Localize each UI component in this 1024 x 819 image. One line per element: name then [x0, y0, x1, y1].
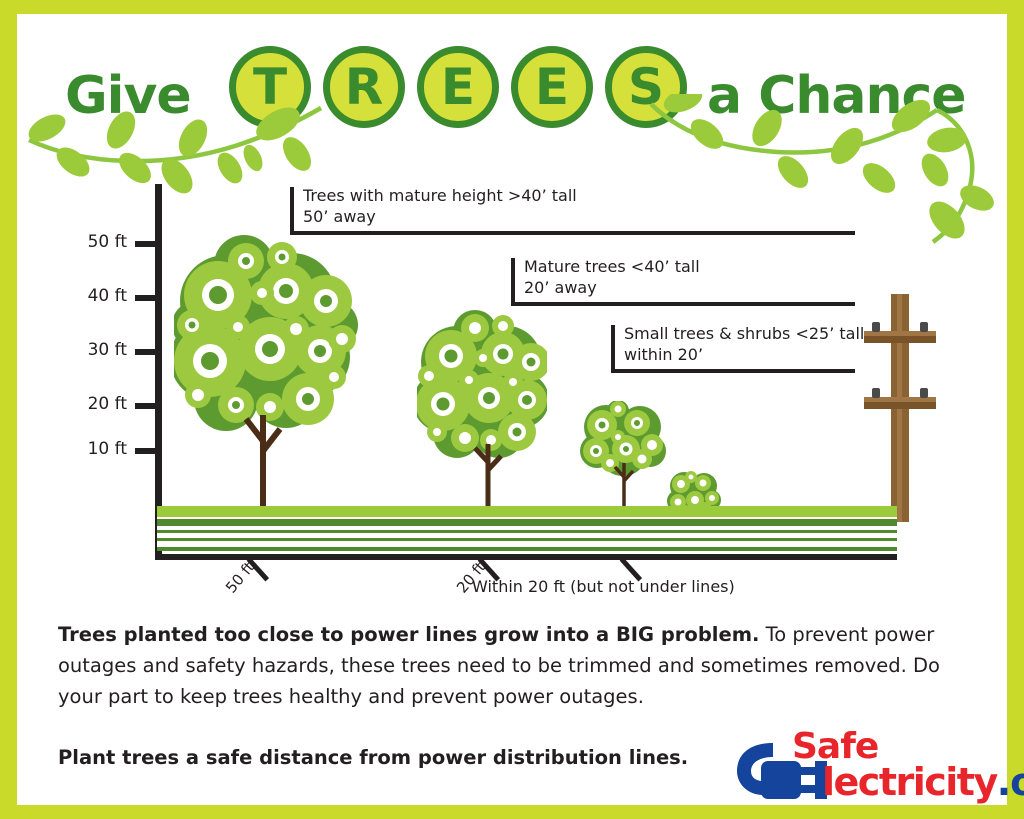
- y-label-30: 30 ft: [53, 340, 127, 360]
- body-paragraph: Trees planted too close to power lines g…: [58, 619, 973, 712]
- callout-1-line2: 50’ away: [303, 207, 376, 226]
- callout-1-rule: [290, 231, 855, 235]
- body-paragraph-lead: Trees planted too close to power lines g…: [58, 623, 759, 646]
- title-bubble-letter-2: R: [323, 46, 405, 128]
- callout-3-line1: Small trees & shrubs <25’ tall: [624, 324, 864, 343]
- title-bubble-letter-4: E: [511, 46, 593, 128]
- y-label-20: 20 ft: [53, 394, 127, 414]
- poster-frame: Give T R E E S a Chance: [0, 0, 1024, 819]
- callout-3-bracket: [611, 325, 615, 369]
- callout-2-bracket: [511, 258, 515, 302]
- callout-2-line2: 20’ away: [524, 278, 597, 297]
- callout-3-text: Small trees & shrubs <25’ tall within 20…: [624, 323, 864, 365]
- y-tick-20: [135, 403, 161, 409]
- ground-band-3: [157, 519, 897, 526]
- title-bubble-letter-3: E: [417, 46, 499, 128]
- logo-word-org: .org: [997, 763, 1024, 801]
- callout-2-line1: Mature trees <40’ tall: [524, 257, 700, 276]
- callout-1-bracket: [290, 187, 294, 231]
- y-tick-50: [135, 241, 161, 247]
- ground-band-9: [157, 547, 897, 551]
- medium-tree-icon: [417, 304, 547, 519]
- logo-word-electricity: lectricity: [822, 763, 997, 801]
- y-label-10: 10 ft: [53, 439, 127, 459]
- distance-chart: 50 ft 40 ft 30 ft 20 ft 10 ft Trees with…: [17, 169, 1007, 619]
- chart-x-axis: [155, 554, 897, 560]
- callout-2-rule: [511, 302, 855, 306]
- callout-1-line1: Trees with mature height >40’ tall: [303, 186, 577, 205]
- callout-2-text: Mature trees <40’ tall 20’ away: [524, 256, 700, 298]
- safe-electricity-logo[interactable]: Safe lectricity .org ®: [727, 727, 993, 803]
- x-label-within20ft: Within 20 ft (but not under lines): [472, 577, 735, 596]
- title-word-a-chance: a Chance: [707, 66, 966, 126]
- title-banner: Give T R E E S a Chance: [17, 36, 1007, 146]
- y-tick-30: [135, 349, 161, 355]
- callout-3-line2: within 20’: [624, 345, 703, 364]
- large-tree-icon: [174, 229, 364, 519]
- y-tick-40: [135, 295, 161, 301]
- callout-3-rule: [611, 369, 855, 373]
- ground-strip: [157, 506, 897, 556]
- y-label-40: 40 ft: [53, 286, 127, 306]
- title-bubble-letter-1: T: [229, 46, 311, 128]
- ground-band-top: [157, 506, 897, 517]
- callout-1-text: Trees with mature height >40’ tall 50’ a…: [303, 185, 577, 227]
- title-word-give: Give: [65, 66, 191, 126]
- utility-pole-icon: [847, 294, 952, 522]
- y-tick-10: [135, 448, 161, 454]
- poster-sheet: Give T R E E S a Chance: [17, 14, 1007, 805]
- title-bubble-letter-5: S: [605, 46, 687, 128]
- x-label-50ft: 50 ft: [222, 558, 258, 596]
- small-tree-icon: [580, 401, 666, 519]
- y-label-50: 50 ft: [53, 232, 127, 252]
